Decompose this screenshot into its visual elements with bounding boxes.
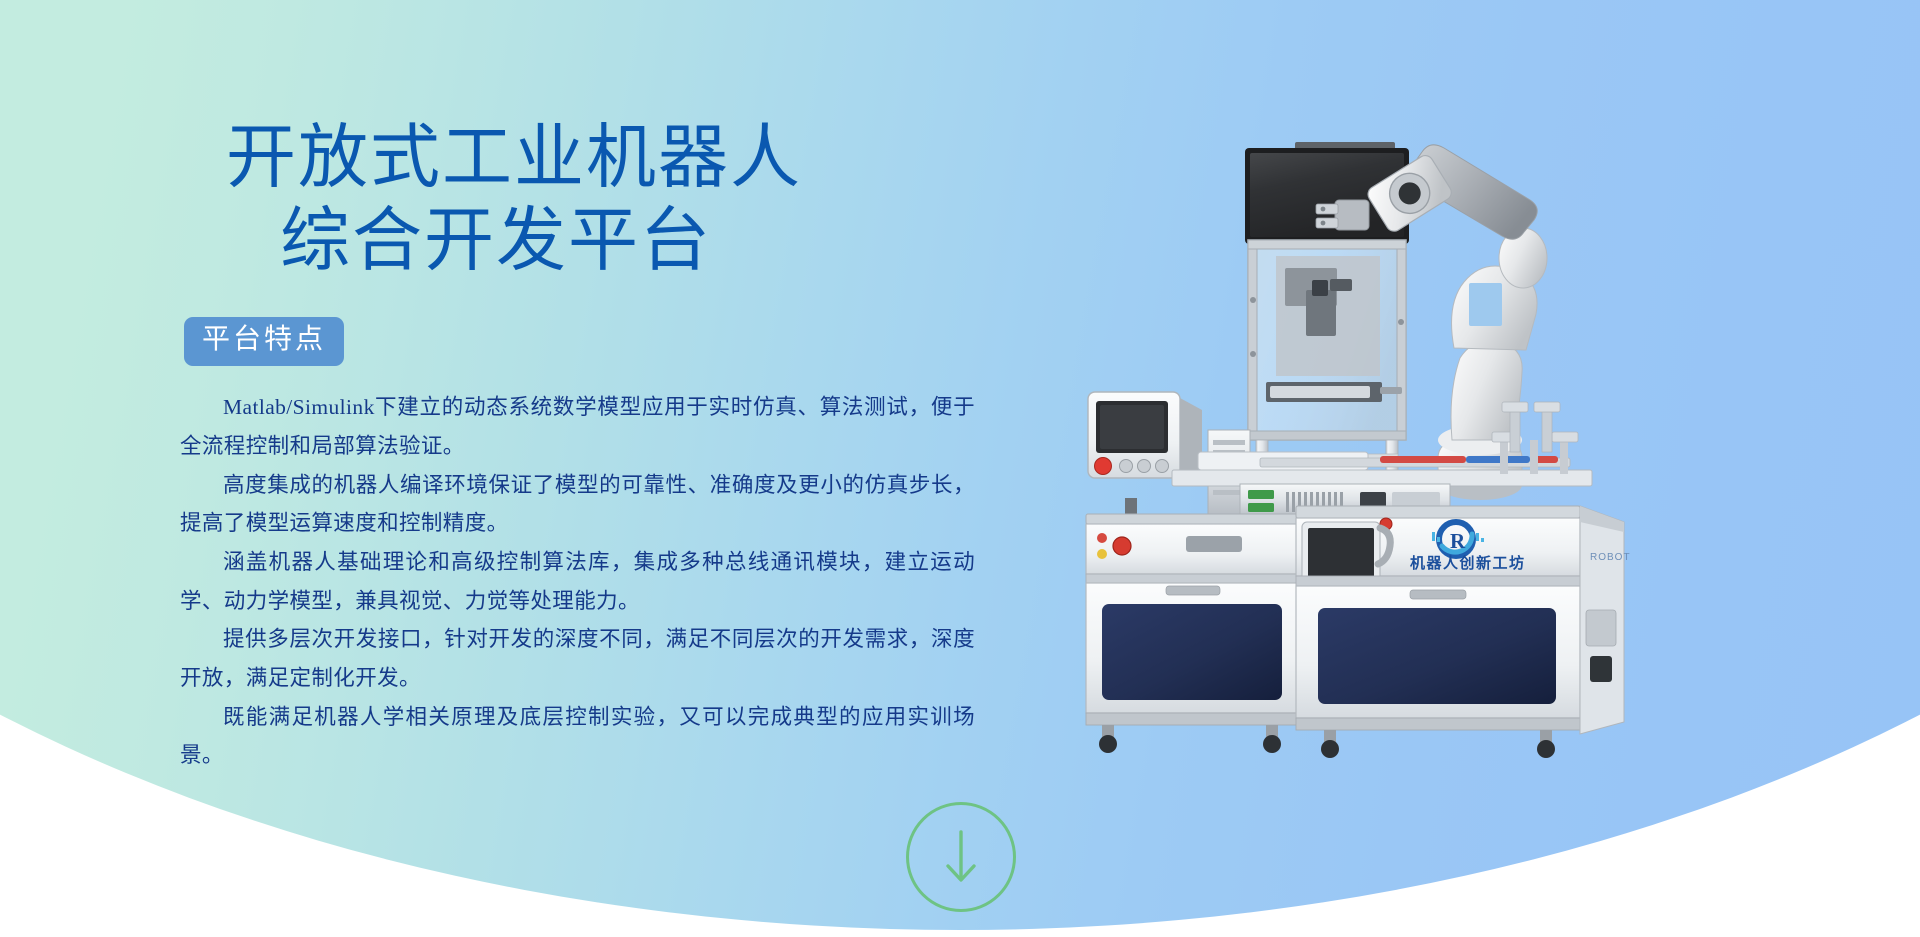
cabinet-side-panel: ROBOT xyxy=(1580,506,1631,734)
scroll-down-button[interactable] xyxy=(906,802,1016,912)
feature-paragraph: 既能满足机器人学相关原理及底层控制实验，又可以完成典型的应用实训场景。 xyxy=(180,698,975,775)
brand-logo-label: 机器人创新工坊 xyxy=(1410,554,1526,572)
text-column: 开放式工业机器人 综合开发平台 平台特点 Matlab/Simulink下建立的… xyxy=(180,118,1000,775)
feature-paragraph: Matlab/Simulink下建立的动态系统数学模型应用于实时仿真、算法测试，… xyxy=(180,388,975,465)
cabinet-side-label: ROBOT xyxy=(1590,552,1631,563)
page-title-line-1: 开放式工业机器人 xyxy=(180,118,1000,201)
section-badge-platform-features: 平台特点 xyxy=(184,317,344,366)
feature-paragraph: 涵盖机器人基础理论和高级控制算法库，集成多种总线通讯模块，建立运动学、动力学模型… xyxy=(180,543,975,620)
robot-platform-illustration: R 机器人创新工坊 xyxy=(1080,140,1670,780)
page-title: 开放式工业机器人 综合开发平台 xyxy=(180,118,1000,283)
svg-text:R: R xyxy=(1450,529,1466,553)
enclosed-work-cell xyxy=(1248,240,1406,440)
cabinet-right: R 机器人创新工坊 xyxy=(1296,506,1580,758)
feature-paragraph: 提供多层次开发接口，针对开发的深度不同，满足不同层次的开发需求，深度开放，满足定… xyxy=(180,620,975,697)
cabinet-left xyxy=(1086,514,1298,753)
hero-banner: 开放式工业机器人 综合开发平台 平台特点 Matlab/Simulink下建立的… xyxy=(0,0,1920,937)
arrow-down-icon xyxy=(909,805,1013,909)
page-title-line-2: 综合开发平台 xyxy=(180,201,1000,284)
robot-platform-svg: R 机器人创新工坊 xyxy=(1080,140,1670,780)
feature-paragraph: 高度集成的机器人编译环境保证了模型的可靠性、准确度及更小的仿真步长，提高了模型运… xyxy=(180,466,975,543)
feature-paragraph-list: Matlab/Simulink下建立的动态系统数学模型应用于实时仿真、算法测试，… xyxy=(180,388,975,775)
